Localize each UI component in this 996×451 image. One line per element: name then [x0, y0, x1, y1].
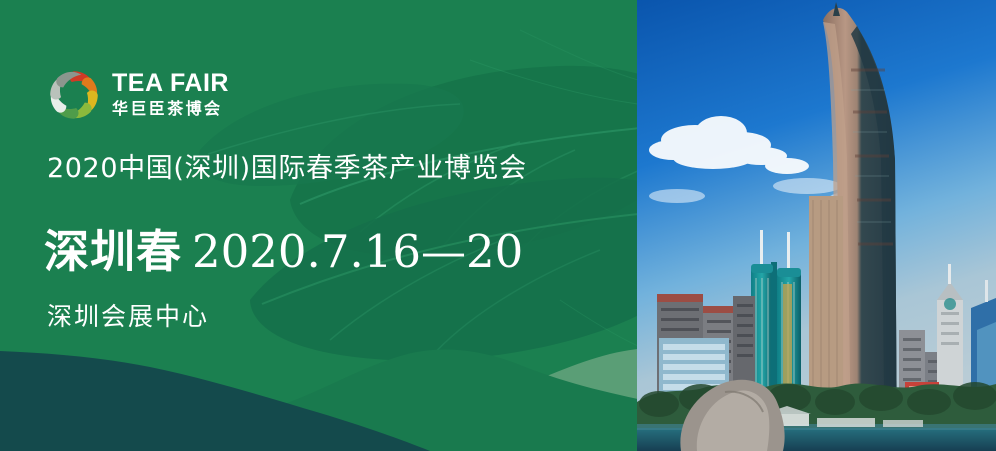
- hill-silhouettes: [0, 321, 638, 451]
- logo-english-name: TEA FAIR: [112, 71, 229, 97]
- logo-chinese-name: 华巨臣茶博会: [112, 99, 229, 119]
- event-dates: 2020.7.16—20: [182, 225, 523, 278]
- tea-fair-logo[interactable]: TEA FAIR 华巨臣茶博会: [47, 68, 229, 122]
- event-edition: 深圳春: [44, 225, 182, 278]
- event-date-line: 深圳春2020.7.16—20: [44, 228, 523, 277]
- event-venue: 深圳会展中心: [47, 303, 209, 332]
- tea-fair-banner: TEA FAIR 华巨臣茶博会 2020中国(深圳)国际春季茶产业博览会 深圳春…: [0, 0, 996, 451]
- tea-fair-swirl-logo-icon: [47, 68, 101, 122]
- logo-wordmark: TEA FAIR 华巨臣茶博会: [112, 71, 229, 119]
- green-panel: TEA FAIR 华巨臣茶博会 2020中国(深圳)国际春季茶产业博览会 深圳春…: [0, 0, 638, 451]
- shenzhen-skyline-photo: [637, 0, 996, 451]
- event-title: 2020中国(深圳)国际春季茶产业博览会: [47, 154, 527, 184]
